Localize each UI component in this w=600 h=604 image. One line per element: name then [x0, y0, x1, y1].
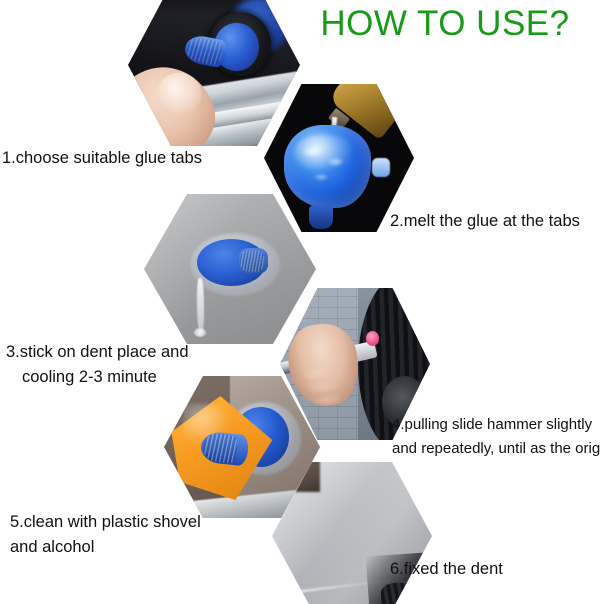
page-title: HOW TO USE?	[300, 4, 590, 44]
step-caption-6-line1: 6.fixed the dent	[390, 560, 503, 578]
step-caption-2: 2.melt the glue at the tabs	[390, 209, 580, 234]
glue-tab-on-chrome-trim-image	[128, 0, 300, 146]
step-caption-3-line1: 3.stick on dent place and	[6, 343, 189, 361]
step-caption-5-line1: 5.clean with plastic shovel	[10, 513, 201, 531]
step-photo-1	[128, 0, 300, 146]
infographic-page: HOW TO USE?	[0, 0, 600, 604]
step-caption-1: 1.choose suitable glue tabs	[2, 146, 202, 171]
step-photo-3	[144, 194, 316, 344]
step-caption-3-line2: cooling 2-3 minute	[6, 365, 189, 390]
step-caption-6: 6.fixed the dent	[390, 557, 503, 582]
step-caption-4: 4.pulling slide hammer slightly and repe…	[392, 413, 600, 461]
step-caption-1-line1: 1.choose suitable glue tabs	[2, 149, 202, 167]
step-caption-3: 3.stick on dent place and cooling 2-3 mi…	[6, 340, 189, 390]
step-caption-4-line1: 4.pulling slide hammer slightly	[392, 416, 592, 433]
glue-tab-stuck-on-panel-image	[144, 194, 316, 344]
step-caption-5-line2: and alcohol	[10, 535, 201, 560]
step-caption-4-line2: and repeatedly, until as the original	[392, 437, 600, 461]
step-caption-5: 5.clean with plastic shovel and alcohol	[10, 510, 201, 560]
step-caption-2-line1: 2.melt the glue at the tabs	[390, 212, 580, 230]
